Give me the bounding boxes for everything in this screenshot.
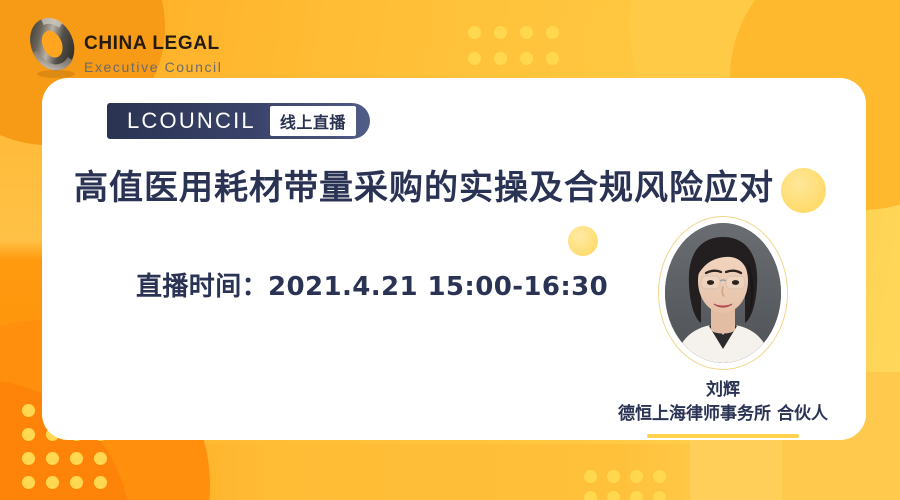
decorative-circle-small xyxy=(568,226,598,256)
brand-title: CHINA LEGAL xyxy=(84,34,222,53)
lcouncil-badge-label: LCOUNCIL xyxy=(107,103,270,139)
broadcast-time: 直播时间：2021.4.21 15:00-16:30 xyxy=(136,274,608,300)
brand-text: CHINA LEGAL Executive Council xyxy=(84,34,222,74)
webinar-poster: CHINA LEGAL Executive Council LCOUNCIL 线… xyxy=(0,0,900,500)
avatar xyxy=(665,223,781,363)
speaker-block: 刘辉 德恒上海律师事务所 合伙人 xyxy=(598,216,848,438)
speaker-organization: 德恒上海律师事务所 合伙人 xyxy=(598,404,848,424)
page-title: 高值医用耗材带量采购的实操及合规风险应对 xyxy=(74,170,834,207)
dot-grid-top-icon xyxy=(468,26,572,78)
dot-grid-bottom-icon xyxy=(584,470,676,500)
lcouncil-badge: LCOUNCIL 线上直播 xyxy=(107,103,370,139)
live-stream-tag: 线上直播 xyxy=(270,106,356,136)
brand-header: CHINA LEGAL Executive Council xyxy=(22,12,322,82)
poster-card: LCOUNCIL 线上直播 高值医用耗材带量采购的实操及合规风险应对 直播时间：… xyxy=(42,78,866,440)
speaker-underline xyxy=(647,434,799,438)
china-legal-ring-logo-icon xyxy=(22,12,84,80)
speaker-name: 刘辉 xyxy=(598,380,848,400)
avatar-ring xyxy=(658,216,788,370)
brand-subtitle: Executive Council xyxy=(84,60,222,74)
